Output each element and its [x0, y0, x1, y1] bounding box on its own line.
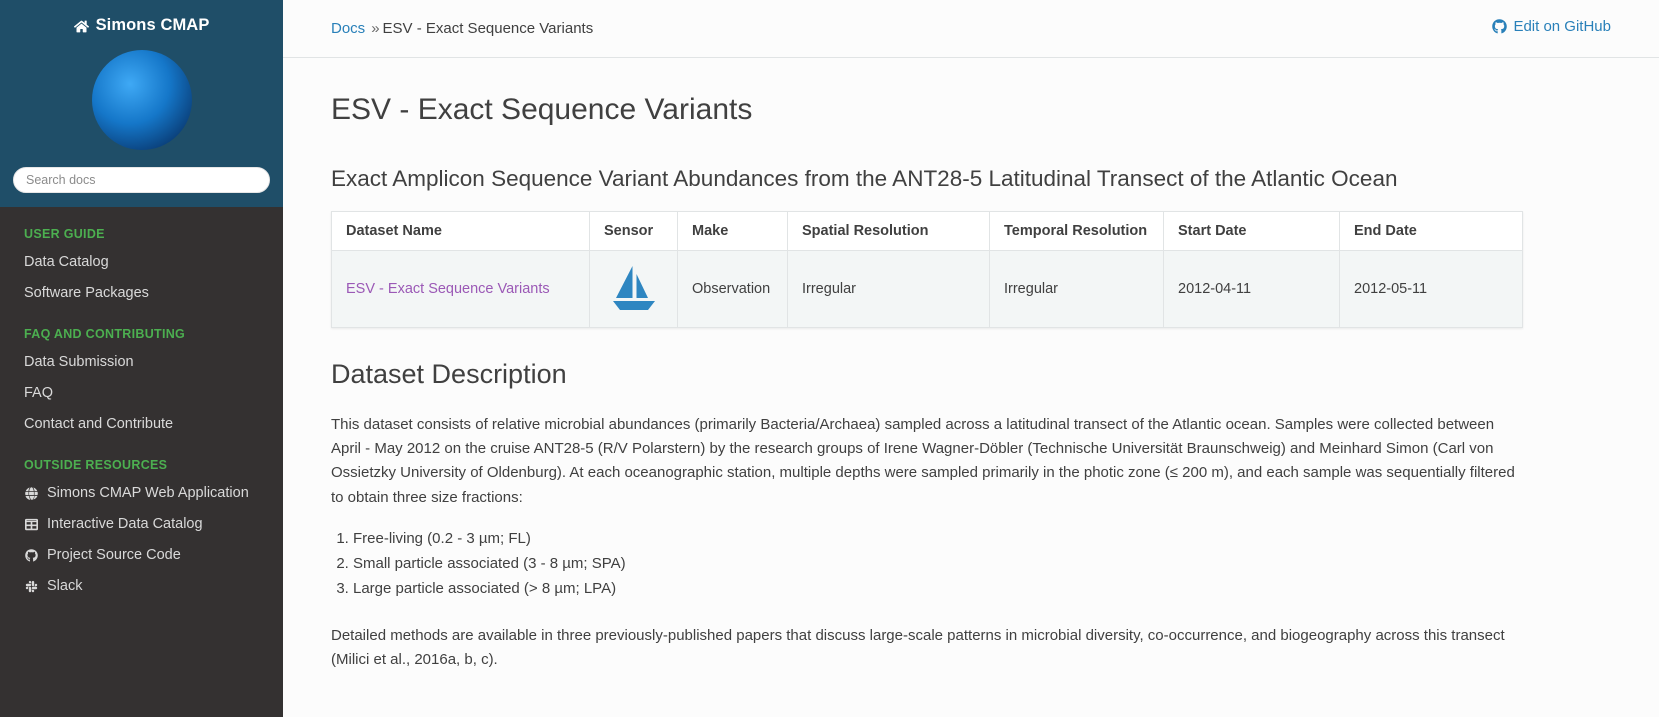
sidebar-item-data-submission[interactable]: Data Submission	[0, 347, 283, 378]
breadcrumb-trail: Docs»ESV - Exact Sequence Variants	[331, 18, 593, 39]
cell-sensor	[590, 251, 678, 328]
table-header-row: Dataset Name Sensor Make Spatial Resolut…	[332, 212, 1523, 251]
table-row: ESV - Exact Sequence Variants	[332, 251, 1523, 328]
sidebar-item-software-packages[interactable]: Software Packages	[0, 278, 283, 309]
main-content: Docs»ESV - Exact Sequence Variants Edit …	[283, 0, 1659, 717]
description-paragraph-2: Detailed methods are available in three …	[331, 624, 1523, 673]
sidebar-caption-faq-and-contributing: FAQ AND CONTRIBUTING	[0, 319, 283, 347]
dataset-name-link[interactable]: ESV - Exact Sequence Variants	[346, 281, 550, 297]
table-icon	[24, 517, 39, 532]
document-body: ESV - Exact Sequence Variants Exact Ampl…	[283, 58, 1659, 672]
column-sensor: Sensor	[590, 212, 678, 251]
globe-icon	[24, 486, 39, 501]
cell-spatial-resolution: Irregular	[788, 251, 990, 328]
section-title-dataset-description: Dataset Description	[331, 358, 1611, 390]
cell-start-date: 2012-04-11	[1164, 251, 1340, 328]
cell-temporal-resolution: Irregular	[990, 251, 1164, 328]
search-form	[0, 167, 283, 193]
cmap-logo	[0, 39, 283, 167]
column-dataset-name: Dataset Name	[332, 212, 590, 251]
sidebar-item-label: Simons CMAP Web Application	[47, 483, 249, 504]
cell-make: Observation	[678, 251, 788, 328]
cell-dataset-name: ESV - Exact Sequence Variants	[332, 251, 590, 328]
list-item: Free-living (0.2 - 3 µm; FL)	[353, 526, 1611, 551]
brand-label: Simons CMAP	[96, 16, 210, 35]
column-end-date: End Date	[1340, 212, 1523, 251]
size-fraction-list: Free-living (0.2 - 3 µm; FL) Small parti…	[331, 526, 1611, 602]
slack-hash-icon	[24, 579, 39, 594]
edit-on-github-label: Edit on GitHub	[1513, 18, 1611, 35]
sidebar: Simons CMAP	[0, 0, 283, 717]
breadcrumb-separator: »	[371, 20, 379, 37]
cell-end-date: 2012-05-11	[1340, 251, 1523, 328]
breadcrumb-current: ESV - Exact Sequence Variants	[383, 20, 594, 37]
breadcrumb: Docs»ESV - Exact Sequence Variants Edit …	[283, 0, 1659, 58]
column-spatial-resolution: Spatial Resolution	[788, 212, 990, 251]
sidebar-header: Simons CMAP	[0, 0, 283, 207]
sidebar-spacer	[0, 309, 283, 319]
list-item: Large particle associated (> 8 µm; LPA)	[353, 576, 1611, 601]
sidebar-caption-user-guide: USER GUIDE	[0, 219, 283, 247]
sidebar-item-slack[interactable]: Slack	[0, 571, 283, 602]
breadcrumb-root-link[interactable]: Docs	[331, 20, 365, 37]
dataset-table-body: ESV - Exact Sequence Variants	[332, 251, 1523, 328]
sidebar-caption-outside-resources: OUTSIDE RESOURCES	[0, 450, 283, 478]
page-root: Simons CMAP	[0, 0, 1659, 717]
github-icon	[1492, 19, 1507, 34]
sidebar-item-faq[interactable]: FAQ	[0, 378, 283, 409]
sidebar-spacer	[0, 440, 283, 450]
sidebar-item-label: Interactive Data Catalog	[47, 514, 203, 535]
dataset-table: Dataset Name Sensor Make Spatial Resolut…	[331, 211, 1523, 328]
page-subtitle: Exact Amplicon Sequence Variant Abundanc…	[331, 164, 1611, 193]
brand-link[interactable]: Simons CMAP	[0, 10, 283, 39]
sidebar-item-interactive-data-catalog[interactable]: Interactive Data Catalog	[0, 509, 283, 540]
cmap-logo-svg	[77, 45, 207, 155]
dataset-table-head: Dataset Name Sensor Make Spatial Resolut…	[332, 212, 1523, 251]
description-paragraph-1: This dataset consists of relative microb…	[331, 413, 1523, 510]
github-icon	[24, 548, 39, 563]
column-start-date: Start Date	[1164, 212, 1340, 251]
sidebar-item-label: Project Source Code	[47, 545, 181, 566]
column-make: Make	[678, 212, 788, 251]
column-temporal-resolution: Temporal Resolution	[990, 212, 1164, 251]
sidebar-item-project-source-code[interactable]: Project Source Code	[0, 540, 283, 571]
page-title: ESV - Exact Sequence Variants	[331, 92, 1611, 128]
sidebar-item-web-application[interactable]: Simons CMAP Web Application	[0, 478, 283, 509]
sidebar-nav: USER GUIDE Data Catalog Software Package…	[0, 207, 283, 717]
search-input[interactable]	[13, 167, 270, 193]
list-item: Small particle associated (3 - 8 µm; SPA…	[353, 551, 1611, 576]
sidebar-item-data-catalog[interactable]: Data Catalog	[0, 247, 283, 278]
edit-on-github-link[interactable]: Edit on GitHub	[1492, 18, 1611, 35]
sidebar-item-label: Slack	[47, 576, 82, 597]
sidebar-item-contact-and-contribute[interactable]: Contact and Contribute	[0, 409, 283, 440]
home-icon	[74, 19, 89, 34]
sailboat-icon	[608, 300, 660, 316]
